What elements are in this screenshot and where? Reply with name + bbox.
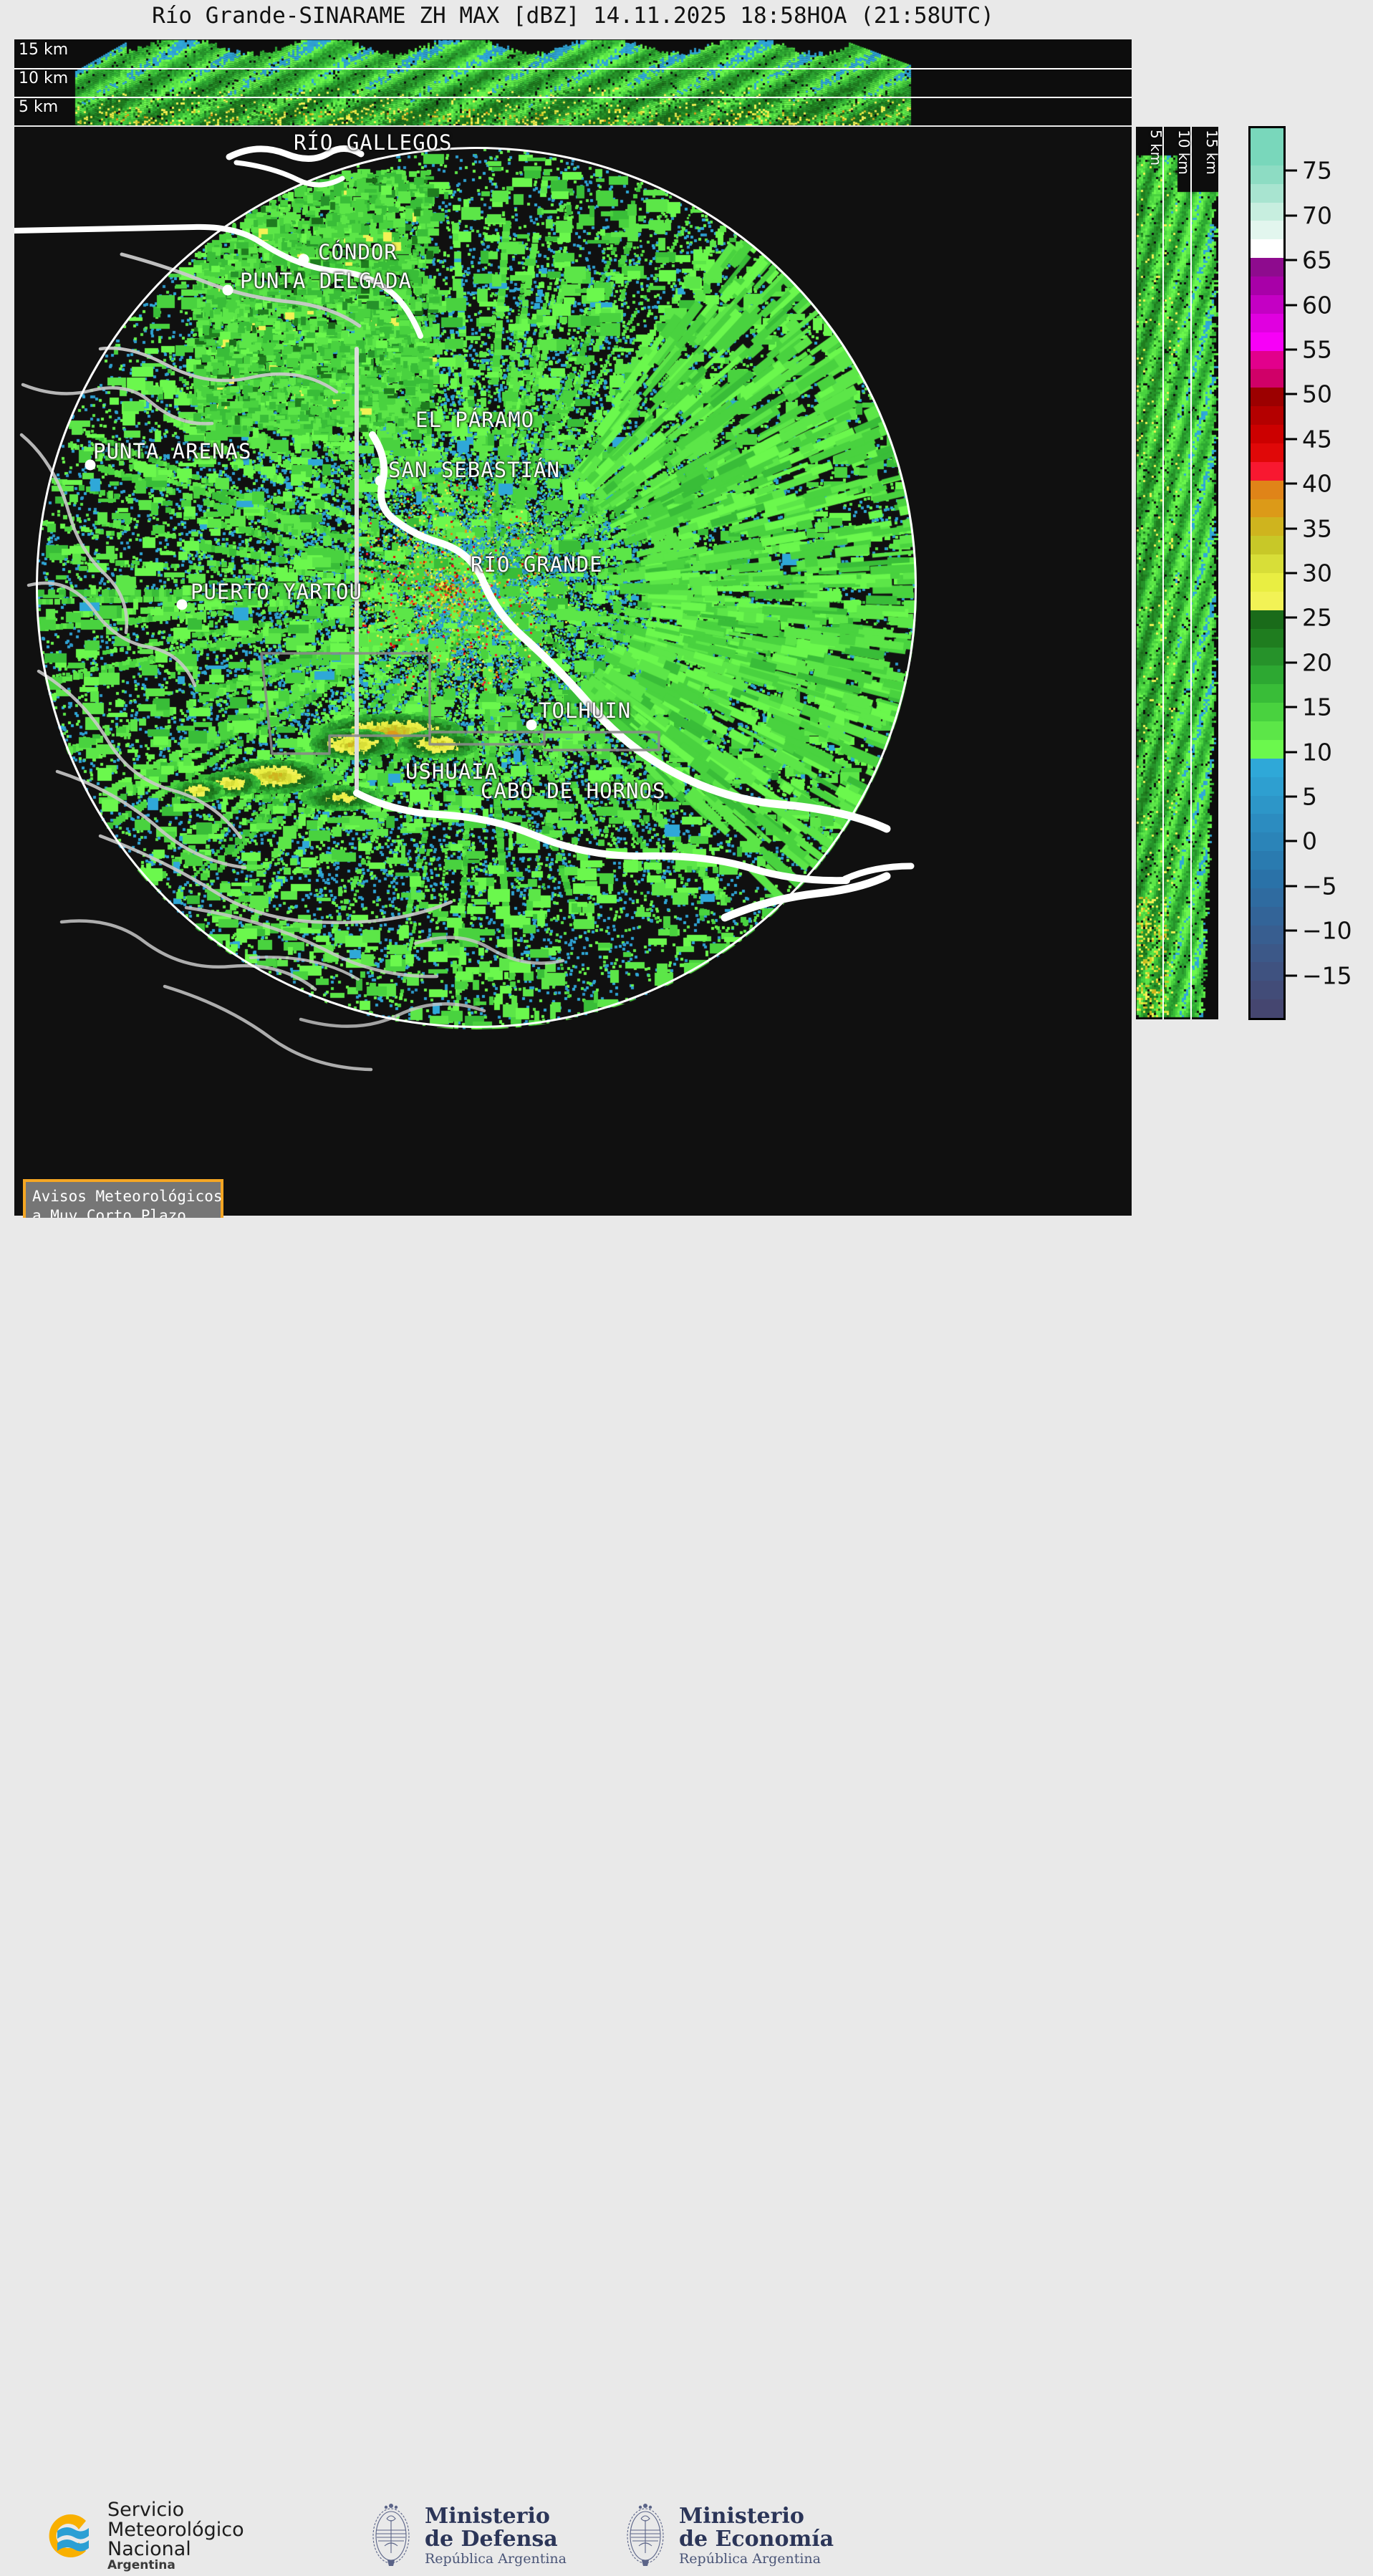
colorbar-tick: 10 bbox=[1286, 738, 1332, 766]
tick-value: 15 bbox=[1302, 693, 1332, 721]
tick-dash bbox=[1286, 393, 1297, 395]
colorbar-swatch bbox=[1251, 962, 1283, 981]
colorbar-swatch bbox=[1251, 944, 1283, 963]
tick-value: 0 bbox=[1302, 827, 1317, 855]
colorbar-tick: 50 bbox=[1286, 380, 1332, 408]
colorbar-swatch bbox=[1251, 999, 1283, 1018]
colorbar-tick: 55 bbox=[1286, 336, 1332, 364]
colorbar-swatch bbox=[1251, 517, 1283, 536]
colorbar-tick: 45 bbox=[1286, 425, 1332, 453]
smn-line-3: Nacional bbox=[107, 2539, 244, 2560]
city-label: TOLHUIN bbox=[539, 698, 631, 723]
defensa-line-1: Ministerio bbox=[425, 2505, 567, 2528]
tick-value: 20 bbox=[1302, 648, 1332, 676]
cross-section-echo-canvas bbox=[14, 39, 1132, 125]
height-line-10km-v bbox=[1190, 127, 1192, 1019]
height-line-10km bbox=[14, 68, 1132, 69]
colorbar-swatch bbox=[1251, 610, 1283, 629]
height-label-15km: 15 km bbox=[19, 41, 68, 59]
city-marker-dot bbox=[526, 720, 537, 731]
tick-dash bbox=[1286, 527, 1297, 529]
colorbar-swatch bbox=[1251, 832, 1283, 851]
colorbar-swatch bbox=[1251, 684, 1283, 703]
tick-dash bbox=[1286, 170, 1297, 172]
colorbar-tick: 35 bbox=[1286, 514, 1332, 542]
economia-line-3: República Argentina bbox=[679, 2552, 834, 2567]
height-label-10km-v: 10 km bbox=[1175, 130, 1193, 175]
tick-value: 50 bbox=[1302, 380, 1332, 408]
tick-value: 55 bbox=[1302, 336, 1332, 364]
colorbar-tick: −10 bbox=[1286, 917, 1352, 945]
city-label: EL PÁRAMO bbox=[415, 408, 534, 432]
reflectivity-colorbar: 757065605550454035302520151050−5−10−15 bbox=[1248, 126, 1370, 1020]
city-label: SAN SEBASTIÁN bbox=[388, 458, 560, 482]
tick-dash bbox=[1286, 483, 1297, 485]
colorbar-swatch bbox=[1251, 777, 1283, 796]
height-label-15km-v: 15 km bbox=[1203, 130, 1218, 175]
tick-dash bbox=[1286, 974, 1297, 976]
colorbar-swatch bbox=[1251, 851, 1283, 870]
tick-value: 40 bbox=[1302, 470, 1332, 498]
colorbar-tick: 60 bbox=[1286, 291, 1332, 319]
tick-value: 65 bbox=[1302, 246, 1332, 274]
colorbar-swatch bbox=[1251, 870, 1283, 888]
colorbar-tick: 15 bbox=[1286, 693, 1332, 721]
smn-logo: Servicio Meteorológico Nacional Argentin… bbox=[36, 2500, 244, 2572]
colorbar-swatch bbox=[1251, 554, 1283, 573]
city-marker-dot bbox=[223, 285, 233, 296]
tick-value: 75 bbox=[1302, 157, 1332, 185]
colorbar-tick: −15 bbox=[1286, 961, 1352, 989]
colorbar-swatch bbox=[1251, 907, 1283, 926]
colorbar-tick: 75 bbox=[1286, 157, 1332, 185]
colorbar-swatch bbox=[1251, 165, 1283, 184]
colorbar-swatch bbox=[1251, 481, 1283, 499]
city-label: CABO DE HORNOS bbox=[481, 779, 665, 803]
colorbar-swatch bbox=[1251, 147, 1283, 165]
colorbar-swatch bbox=[1251, 277, 1283, 295]
colorbar-swatch bbox=[1251, 406, 1283, 425]
colorbar-swatch bbox=[1251, 703, 1283, 721]
tick-dash bbox=[1286, 438, 1297, 440]
colorbar-swatch bbox=[1251, 203, 1283, 221]
tick-value: 5 bbox=[1302, 783, 1317, 811]
tick-dash bbox=[1286, 349, 1297, 351]
city-label: RÍO GALLEGOS bbox=[294, 130, 453, 155]
tick-dash bbox=[1286, 751, 1297, 753]
tick-value: −5 bbox=[1302, 872, 1337, 900]
economia-line-2: de Economía bbox=[679, 2528, 834, 2551]
colorbar-swatch bbox=[1251, 221, 1283, 239]
footer-logo-bar: Servicio Meteorológico Nacional Argentin… bbox=[0, 1218, 1373, 1368]
colorbar-swatch bbox=[1251, 425, 1283, 443]
smn-line-2: Meteorológico bbox=[107, 2520, 244, 2540]
tick-dash bbox=[1286, 617, 1297, 619]
height-line-5km bbox=[14, 97, 1132, 98]
defensa-line-3: República Argentina bbox=[425, 2552, 567, 2567]
economia-line-1: Ministerio bbox=[679, 2505, 834, 2528]
colorbar-tick: 65 bbox=[1286, 246, 1332, 274]
colorbar-swatch bbox=[1251, 888, 1283, 907]
height-label-10km: 10 km bbox=[19, 69, 68, 87]
radar-range-ring bbox=[36, 147, 917, 1028]
east-west-cross-section-panel: 15 km 10 km 5 km bbox=[14, 39, 1132, 125]
tick-value: 30 bbox=[1302, 559, 1332, 587]
colorbar-swatch bbox=[1251, 536, 1283, 554]
smn-mark-icon bbox=[36, 2505, 97, 2567]
tick-value: 70 bbox=[1302, 201, 1332, 229]
north-south-cross-section-panel: 5 km 10 km 15 km bbox=[1136, 127, 1218, 1019]
colorbar-tick: −5 bbox=[1286, 872, 1337, 900]
colorbar-swatches bbox=[1248, 126, 1286, 1020]
colorbar-swatch bbox=[1251, 295, 1283, 314]
colorbar-swatch bbox=[1251, 314, 1283, 332]
city-label: PUNTA ARENAS bbox=[93, 439, 252, 463]
colorbar-swatch bbox=[1251, 388, 1283, 406]
colorbar-swatch bbox=[1251, 926, 1283, 944]
colorbar-tick: 0 bbox=[1286, 827, 1317, 855]
tick-value: 35 bbox=[1302, 514, 1332, 542]
tick-dash bbox=[1286, 706, 1297, 708]
cross-section-echo-canvas-vertical bbox=[1136, 127, 1218, 1019]
city-label: RÍO GRANDE bbox=[471, 552, 603, 577]
city-label: CÓNDOR bbox=[318, 240, 398, 264]
colorbar-swatch bbox=[1251, 740, 1283, 759]
colorbar-swatch bbox=[1251, 128, 1283, 147]
city-marker-dot bbox=[375, 476, 386, 486]
colorbar-swatch bbox=[1251, 258, 1283, 277]
colorbar-swatch bbox=[1251, 796, 1283, 814]
colorbar-swatch bbox=[1251, 573, 1283, 592]
colorbar-swatch bbox=[1251, 648, 1283, 666]
tick-value: 10 bbox=[1302, 738, 1332, 766]
defensa-line-2: de Defensa bbox=[425, 2528, 567, 2551]
tick-value: 45 bbox=[1302, 425, 1332, 453]
colorbar-swatch bbox=[1251, 351, 1283, 370]
colorbar-swatch bbox=[1251, 332, 1283, 351]
colorbar-swatch bbox=[1251, 814, 1283, 832]
colorbar-swatch bbox=[1251, 462, 1283, 481]
height-label-5km-v: 5 km bbox=[1147, 130, 1165, 165]
city-label: PUNTA DELGADA bbox=[240, 269, 412, 293]
warning-line-1: Avisos Meteorológicos bbox=[32, 1187, 214, 1206]
tick-dash bbox=[1286, 259, 1297, 261]
colorbar-tick: 30 bbox=[1286, 559, 1332, 587]
tick-dash bbox=[1286, 304, 1297, 306]
colorbar-tick: 20 bbox=[1286, 648, 1332, 676]
radar-map-panel[interactable]: RÍO GALLEGOSCÓNDORPUNTA DELGADAEL PÁRAMO… bbox=[14, 127, 1132, 1216]
smn-line-1: Servicio bbox=[107, 2500, 244, 2520]
tick-value: 25 bbox=[1302, 604, 1332, 632]
colorbar-swatch bbox=[1251, 184, 1283, 203]
colorbar-swatch bbox=[1251, 629, 1283, 648]
tick-dash bbox=[1286, 885, 1297, 887]
tick-dash bbox=[1286, 661, 1297, 663]
colorbar-swatch bbox=[1251, 499, 1283, 518]
tick-value: −15 bbox=[1302, 961, 1352, 989]
tick-dash bbox=[1286, 930, 1297, 932]
city-marker-dot bbox=[299, 254, 309, 265]
tick-value: 60 bbox=[1302, 291, 1332, 319]
colorbar-swatch bbox=[1251, 665, 1283, 684]
colorbar-tick: 40 bbox=[1286, 470, 1332, 498]
city-marker-dot bbox=[177, 600, 188, 610]
tick-dash bbox=[1286, 572, 1297, 575]
colorbar-tick: 5 bbox=[1286, 783, 1317, 811]
smn-line-4: Argentina bbox=[107, 2560, 244, 2572]
colorbar-tick-labels: 757065605550454035302520151050−5−10−15 bbox=[1286, 126, 1370, 1020]
colorbar-swatch bbox=[1251, 239, 1283, 258]
ministerio-economia-logo: Ministerio de Economía República Argenti… bbox=[623, 2499, 834, 2573]
tick-dash bbox=[1286, 214, 1297, 216]
tick-dash bbox=[1286, 840, 1297, 842]
argentina-coat-of-arms-icon bbox=[369, 2499, 413, 2573]
tick-dash bbox=[1286, 796, 1297, 798]
height-line-5km-v bbox=[1162, 127, 1164, 1019]
city-label: PUERTO YARTOU bbox=[191, 580, 362, 604]
page-title: Río Grande-SINARAME ZH MAX [dBZ] 14.11.2… bbox=[0, 3, 1146, 29]
ministerio-defensa-logo: Ministerio de Defensa República Argentin… bbox=[369, 2499, 567, 2573]
tick-value: −10 bbox=[1302, 917, 1352, 945]
colorbar-swatch bbox=[1251, 981, 1283, 999]
colorbar-swatch bbox=[1251, 721, 1283, 740]
colorbar-swatch bbox=[1251, 369, 1283, 388]
height-label-5km: 5 km bbox=[19, 98, 58, 116]
colorbar-tick: 70 bbox=[1286, 201, 1332, 229]
colorbar-tick: 25 bbox=[1286, 604, 1332, 632]
colorbar-swatch bbox=[1251, 759, 1283, 777]
colorbar-swatch bbox=[1251, 443, 1283, 462]
argentina-coat-of-arms-icon-2 bbox=[623, 2499, 668, 2573]
colorbar-swatch bbox=[1251, 592, 1283, 610]
